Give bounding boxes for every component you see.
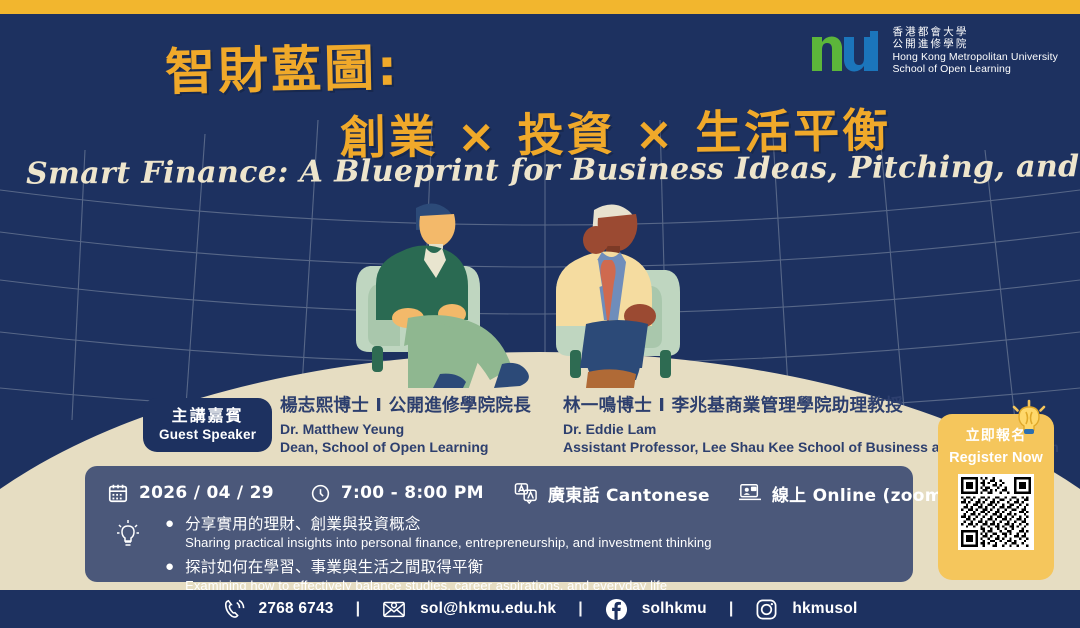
footer-separator-1: | xyxy=(356,600,360,618)
register-en-label: Register Now xyxy=(949,450,1043,466)
event-info-row: 2026 / 04 / 29 7:00 - 8:00 PM xyxy=(107,476,951,510)
logo-zh-line-2: 公開進修學院 xyxy=(892,38,1058,50)
badge-en-label: Guest Speaker xyxy=(159,426,256,444)
highlight-item: ● 分享實用的理財、創業與投資概念 Sharing practical insi… xyxy=(165,514,712,552)
register-card[interactable]: 立即報名 Register Now xyxy=(938,414,1054,580)
footer-facebook-value: solhkmu xyxy=(642,600,707,618)
event-language-value: 廣東話 Cantonese xyxy=(548,481,710,506)
footer-instagram-value: hkmusol xyxy=(792,600,857,618)
left-person-figure xyxy=(376,203,529,388)
highlight-list: ● 分享實用的理財、創業與投資概念 Sharing practical insi… xyxy=(165,514,712,600)
footer-email[interactable]: sol@hkmu.edu.hk xyxy=(382,598,556,620)
footer-separator-2: | xyxy=(578,600,582,618)
speaker-1-zh: 楊志熙博士 Ⅰ 公開進修學院院長 xyxy=(280,392,531,417)
phone-icon xyxy=(223,598,245,620)
event-info-panel: 2026 / 04 / 29 7:00 - 8:00 PM xyxy=(85,466,913,582)
speaker-1-name: Dr. Matthew Yeung xyxy=(280,421,531,439)
footer-email-value: sol@hkmu.edu.hk xyxy=(420,600,556,618)
guest-speaker-badge: 主講嘉賓 Guest Speaker xyxy=(143,398,272,452)
facebook-icon xyxy=(605,598,628,621)
clock-icon xyxy=(310,483,331,504)
webinar-icon xyxy=(738,482,762,504)
title-english-subtitle: Smart Finance: A Blueprint for Business … xyxy=(26,147,1080,191)
event-time-chip: 7:00 - 8:00 PM xyxy=(310,483,484,504)
calendar-icon xyxy=(107,482,129,504)
badge-zh-label: 主講嘉賓 xyxy=(159,405,256,426)
logo-en-line-1: Hong Kong Metropolitan University xyxy=(892,51,1058,63)
instagram-icon xyxy=(755,598,778,621)
highlight-1-zh: 分享實用的理財、創業與投資概念 xyxy=(185,514,712,534)
speaker-block-1: 楊志熙博士 Ⅰ 公開進修學院院長 Dr. Matthew Yeung Dean,… xyxy=(280,392,531,457)
highlight-1-en: Sharing practical insights into personal… xyxy=(185,534,712,552)
email-icon xyxy=(382,598,406,620)
seated-speakers-illustration xyxy=(330,188,770,388)
event-format-chip: 線上 Online (zoom) xyxy=(738,481,951,506)
footer-facebook[interactable]: solhkmu xyxy=(605,598,707,621)
contact-footer-bar: 2768 6743 | sol@hkmu.edu.hk | solhkmu | xyxy=(0,590,1080,628)
event-time-value: 7:00 - 8:00 PM xyxy=(341,483,484,503)
qr-code[interactable] xyxy=(958,474,1034,550)
footer-phone[interactable]: 2768 6743 xyxy=(223,598,334,620)
speaker-1-role: Dean, School of Open Learning xyxy=(280,439,531,457)
title-chinese-line-1: 智財藍圖: xyxy=(164,28,400,105)
translate-icon xyxy=(514,482,538,504)
event-language-chip: 廣東話 Cantonese xyxy=(514,481,710,506)
event-format-value: 線上 Online (zoom) xyxy=(772,481,951,506)
event-date-value: 2026 / 04 / 29 xyxy=(139,483,274,503)
logo-en-line-2: School of Open Learning xyxy=(892,63,1058,75)
bullet-dot-icon: ● xyxy=(165,514,174,552)
lightbulb-decoration-icon xyxy=(1006,398,1052,444)
footer-phone-value: 2768 6743 xyxy=(259,600,334,618)
mu-logomark-icon xyxy=(810,29,880,73)
lightbulb-icon xyxy=(114,518,142,548)
top-accent-strip xyxy=(0,0,1080,14)
hkmu-logo: 香港都會大學 公開進修學院 Hong Kong Metropolitan Uni… xyxy=(810,26,1058,76)
event-highlights: ● 分享實用的理財、創業與投資概念 Sharing practical insi… xyxy=(107,514,712,600)
footer-separator-3: | xyxy=(729,600,733,618)
poster-canvas: 香港都會大學 公開進修學院 Hong Kong Metropolitan Uni… xyxy=(0,0,1080,628)
event-date-chip: 2026 / 04 / 29 xyxy=(107,482,274,504)
logo-zh-line-1: 香港都會大學 xyxy=(892,26,1058,38)
highlight-2-zh: 探討如何在學習、事業與生活之間取得平衡 xyxy=(185,557,667,577)
footer-instagram[interactable]: hkmusol xyxy=(755,598,857,621)
